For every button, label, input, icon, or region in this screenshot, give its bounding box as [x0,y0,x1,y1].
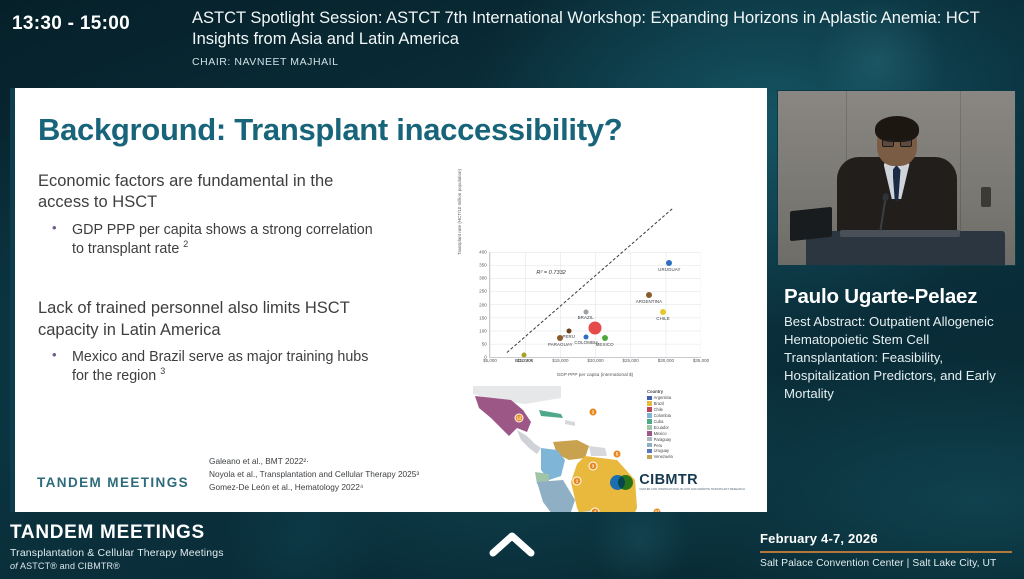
footer-org-names: ASTCT® and CIBMTR® [18,561,120,571]
speaker-abstract: Best Abstract: Outpatient Allogeneic Hem… [784,313,1006,403]
speaker-glasses-icon [882,139,912,147]
chart-y-tick: 350 [479,263,487,268]
legend-label: Chile [654,407,663,412]
chart-x-tick: $5,000 [483,358,497,363]
chart-point-label: BRAZIL [578,315,594,320]
legend-label: Uruguay [654,448,669,453]
map-legend-item: Peru [647,443,705,448]
legend-swatch [647,396,652,401]
legend-label: Brazil [654,401,664,406]
legend-label: Cuba [654,419,664,424]
slide-accent-bar [10,88,15,512]
footer-rule [760,551,1012,553]
session-time: 13:30 - 15:00 [12,13,130,35]
chart-data-point [521,352,526,357]
chart-y-axis-title: Transplant rate (HCT/10 million populati… [457,164,463,260]
chart-y-tick: 200 [479,302,487,307]
latin-america-map: 122531437119 Country ArgentinaBrazilChil… [465,384,710,512]
session-title: ASTCT Spotlight Session: ASTCT 7th Inter… [192,8,992,51]
slide-tandem-logo: TANDEM MEETINGS [37,475,189,490]
wall-switch [981,187,991,207]
map-legend-item: Brazil [647,401,705,406]
cibmtr-mark-icon [610,474,634,491]
chart-x-tick: $35,000 [693,358,709,363]
slide-citations: Galeano et al., BMT 2022²·Noyola et al.,… [209,455,419,494]
presentation-slide[interactable]: Background: Transplant inaccessibility? … [10,88,767,512]
chart-point-label: URUGUAY [658,267,680,272]
map-legend-item: Venezuela [647,454,705,459]
chart-data-point [666,260,672,266]
map-marker: 37 [653,508,662,513]
chart-data-point [584,334,589,339]
slide-body: Economic factors are fundamental in the … [38,171,378,387]
scatter-chart: Transplant rate (HCT/10 million populati… [459,246,705,378]
chart-x-tick: $20,000 [587,358,603,363]
chart-x-tick: $30,000 [658,358,674,363]
chart-x-axis-title: GDP PPP per capita (international $) [489,372,701,377]
map-shapes [465,384,645,512]
speaker-name: Paulo Ugarte-Pelaez [784,285,1024,309]
chart-point-label: MEXICO [596,342,614,347]
legend-swatch [647,431,652,436]
map-marker: 12 [515,414,524,423]
footer-date: February 4-7, 2026 [760,531,1012,546]
chart-data-point [646,292,652,298]
legend-swatch [647,443,652,448]
citation-line: Galeano et al., BMT 2022²· [209,455,419,468]
cibmtr-logo: CIBMTR CENTER FOR INTERNATIONAL BLOOD AN… [610,473,745,492]
chart-trendline [456,150,673,353]
slide-lead-2: Lack of trained personnel also limits HS… [38,298,378,341]
footer-venue: Salt Palace Convention Center | Salt Lak… [760,558,1012,569]
chart-data-point [588,321,601,334]
map-legend-item: Paraguay [647,437,705,442]
legend-label: Colombia [654,413,671,418]
chart-data-point [583,309,588,314]
chart-y-tick: 150 [479,315,487,320]
chart-point-label: PARAGUAY [548,342,573,347]
slide-bullet-list-1: GDP PPP per capita shows a strong correl… [38,221,378,258]
slide-bullet-list-2: Mexico and Brazil serve as major trainin… [38,348,378,385]
map-legend-item: Argentina [647,395,705,400]
footer-event-info: February 4-7, 2026 Salt Palace Conventio… [760,531,1012,569]
map-legend-item: Cuba [647,419,705,424]
chart-data-point [602,335,608,341]
legend-swatch [647,455,652,460]
collapse-chevron-icon[interactable] [489,531,535,557]
legend-label: Peru [654,443,663,448]
map-marker: 4 [591,508,600,513]
chart-y-tick: 300 [479,276,487,281]
citation-line: Noyola et al., Transplantation and Cellu… [209,468,419,481]
legend-label: Paraguay [654,437,672,442]
chart-data-point [660,309,666,315]
session-chair: CHAIR: NAVNEET MAJHAIL [192,56,992,68]
map-marker: 2 [589,408,598,417]
footer-brand-subtitle: Transplantation & Cellular Therapy Meeti… [10,547,224,559]
podium-bar [840,230,960,237]
bullet-sup-2: 3 [160,366,165,376]
session-info: ASTCT Spotlight Session: ASTCT 7th Inter… [192,8,992,68]
citation-line: Gomez-De León et al., Hematology 2022⁴ [209,481,419,494]
list-item: Mexico and Brazil serve as major trainin… [38,348,378,385]
chart-point-label: ARGENTINA [636,299,663,304]
chart-data-point [566,328,571,333]
legend-swatch [647,407,652,412]
footer-of-word: of [10,561,18,571]
speaker-video[interactable] [777,90,1016,266]
chart-y-tick: 100 [479,328,487,333]
chart-point-label: PERU [562,334,575,339]
bullet-text-2: Mexico and Brazil serve as major trainin… [72,349,368,384]
map-legend-item: Mexico [647,431,705,436]
legend-swatch [647,413,652,418]
chart-y-tick: 400 [479,250,487,255]
legend-label: Venezuela [654,454,673,459]
footer-brand: TANDEM MEETINGS Transplantation & Cellul… [10,522,224,571]
chart-point-label: BOLIVIA [515,358,533,363]
map-marker: 5 [613,450,622,459]
list-item: GDP PPP per capita shows a strong correl… [38,221,378,258]
legend-swatch [647,425,652,430]
map-legend-title: Country [647,389,705,394]
chart-plot-area: R² = 0.7332 050100150200250300350400$5,0… [489,252,701,358]
chart-y-tick: 50 [482,341,487,346]
map-legend-item: Chile [647,407,705,412]
legend-swatch [647,449,652,454]
footer-brand-orgs: of ASTCT® and CIBMTR® [10,561,224,571]
legend-label: Argentina [654,395,672,400]
map-marker: 1 [573,477,582,486]
map-legend-item: Colombia [647,413,705,418]
slide-title: Background: Transplant inaccessibility? [38,112,622,148]
cibmtr-name: CIBMTR [639,473,745,488]
legend-swatch [647,437,652,442]
footer-brand-title: TANDEM MEETINGS [10,522,224,544]
chart-point-label: CHILE [656,316,669,321]
cibmtr-subtitle: CENTER FOR INTERNATIONAL BLOOD AND MARRO… [639,489,745,492]
legend-swatch [647,401,652,406]
map-marker: 3 [589,462,598,471]
bullet-text-1: GDP PPP per capita shows a strong correl… [72,222,373,257]
bullet-sup-1: 2 [183,239,188,249]
map-legend-item: Uruguay [647,448,705,453]
legend-label: Mexico [654,431,667,436]
map-legend: Country ArgentinaBrazilChileColombiaCuba… [647,389,705,460]
session-header: 13:30 - 15:00 ASTCT Spotlight Session: A… [0,0,1024,84]
legend-swatch [647,419,652,424]
chart-r2-annotation: R² = 0.7332 [536,270,565,276]
map-legend-item: Ecuador [647,425,705,430]
map-legend-rows: ArgentinaBrazilChileColombiaCubaEcuadorM… [647,395,705,459]
laptop [790,207,832,241]
legend-label: Ecuador [654,425,669,430]
chart-x-tick: $15,000 [552,358,568,363]
chart-y-tick: 250 [479,289,487,294]
chart-x-tick: $25,000 [623,358,639,363]
slide-lead-1: Economic factors are fundamental in the … [38,171,378,214]
